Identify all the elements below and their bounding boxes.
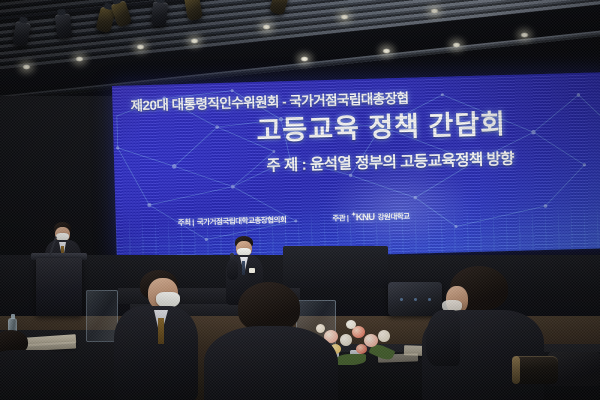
banner-text-block: 제20대 대통령직인수위원회 - 국가거점국립대총장협 고등교육 정책 간담회 … xyxy=(112,72,600,262)
attendee-far-left xyxy=(0,330,68,400)
ceiling-downlight-icon xyxy=(520,32,529,38)
ceiling-downlight-icon xyxy=(430,8,439,14)
flower-bloom xyxy=(364,334,378,347)
banner-credits: 주최 | 국가거점국립대학교총장협의회 주관 | ✦KNU 강원대학교 xyxy=(178,204,598,228)
credit-organizer: 주관 | ✦KNU 강원대학교 xyxy=(332,210,410,224)
monitor-indicator-icon xyxy=(400,298,403,301)
attendee-center-foreground xyxy=(212,282,332,400)
stage-spotlight-icon xyxy=(55,13,72,38)
knu-logo-text: KNU xyxy=(356,212,375,224)
standing-speaker-badge xyxy=(249,268,255,273)
credit-host: 주최 | 국가거점국립대학교총장협의회 xyxy=(178,214,287,228)
knu-logo: ✦KNU xyxy=(351,211,375,224)
stage-spotlight-icon xyxy=(151,1,168,26)
ceiling-downlight-icon xyxy=(452,42,461,48)
flower-bloom xyxy=(346,320,356,329)
ceiling-downlight-icon xyxy=(300,56,309,62)
standing-speaker-arm xyxy=(227,260,238,280)
podium xyxy=(36,258,82,316)
credit-organizer-org: 강원대학교 xyxy=(377,210,409,222)
ceiling-downlight-icon xyxy=(382,48,391,54)
led-video-wall: 제20대 대통령직인수위원회 - 국가거점국립대총장협 고등교육 정책 간담회 … xyxy=(112,72,600,262)
attendee-tie xyxy=(158,318,164,344)
attendee-torso xyxy=(204,326,338,400)
attendee-raised-arm xyxy=(426,310,460,366)
conference-photo: 제20대 대통령직인수위원회 - 국가거점국립대총장협 고등교육 정책 간담회 … xyxy=(0,0,600,400)
credit-host-role: 주최 | xyxy=(178,216,194,227)
banner-subtitle: 주 제 : 윤석열 정부의 고등교육정책 방향 xyxy=(170,144,600,178)
attendee-left-foreground xyxy=(118,270,208,400)
attendee-torso xyxy=(114,306,198,400)
ceiling-downlight-icon xyxy=(75,56,84,62)
camera-lens-ring xyxy=(512,356,520,384)
ceiling-downlight-icon xyxy=(340,14,349,20)
credit-host-org: 국가거점국립대학교총장협의회 xyxy=(197,214,287,227)
attendee-hair xyxy=(238,282,300,332)
flower-bloom xyxy=(356,344,367,354)
credit-organizer-role: 주관 | xyxy=(332,212,348,223)
standing-speaker-tie xyxy=(242,261,245,275)
ceiling-downlight-icon xyxy=(136,44,145,50)
ceiling-downlight-icon xyxy=(262,24,271,30)
monitor-indicator-icon xyxy=(414,298,417,301)
ceiling-downlight-icon xyxy=(190,38,199,44)
flower-bloom xyxy=(378,330,390,342)
attendee-torso xyxy=(0,350,74,400)
ceiling-downlight-icon xyxy=(22,64,31,70)
foliage xyxy=(336,354,366,365)
flower-bloom xyxy=(340,334,352,346)
